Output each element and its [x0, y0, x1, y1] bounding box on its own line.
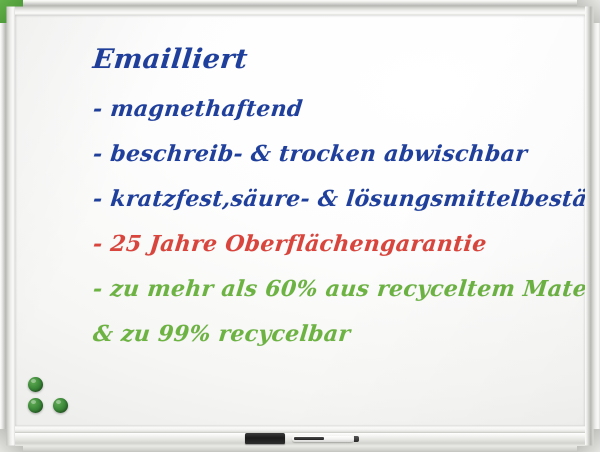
- frame-top-rail: [0, 0, 600, 15]
- frame-right-rail: [585, 0, 600, 452]
- magnet-3[interactable]: [53, 398, 68, 413]
- whiteboard-marker[interactable]: [292, 436, 354, 442]
- handwritten-content: Emailliert - magnethaftend - beschreib- …: [93, 41, 573, 357]
- whiteboard: Emailliert - magnethaftend - beschreib- …: [0, 0, 600, 452]
- bullet-kratzfest: - kratzfest,säure- & lösungsmittelbestän…: [91, 177, 576, 222]
- board-eraser[interactable]: [245, 433, 285, 444]
- bullet-abwischbar: - beschreib- & trocken abwischbar: [91, 132, 576, 177]
- board-writing-surface[interactable]: Emailliert - magnethaftend - beschreib- …: [15, 15, 585, 426]
- frame-left-rail: [0, 0, 15, 452]
- marker-label-band: [294, 437, 324, 440]
- bullet-oberflaechengarantie: - 25 Jahre Oberflächengarantie: [91, 222, 576, 267]
- bullet-recyceltes-material: - zu mehr als 60% aus recyceltem Materia…: [91, 267, 576, 312]
- bullet-magnethaftend: - magnethaftend: [91, 87, 576, 132]
- marker-tip-icon: [354, 436, 359, 442]
- magnet-2[interactable]: [28, 398, 43, 413]
- bullet-recycelbar: & zu 99% recycelbar: [91, 312, 576, 357]
- board-title: Emailliert: [91, 41, 575, 79]
- magnet-1[interactable]: [28, 377, 43, 392]
